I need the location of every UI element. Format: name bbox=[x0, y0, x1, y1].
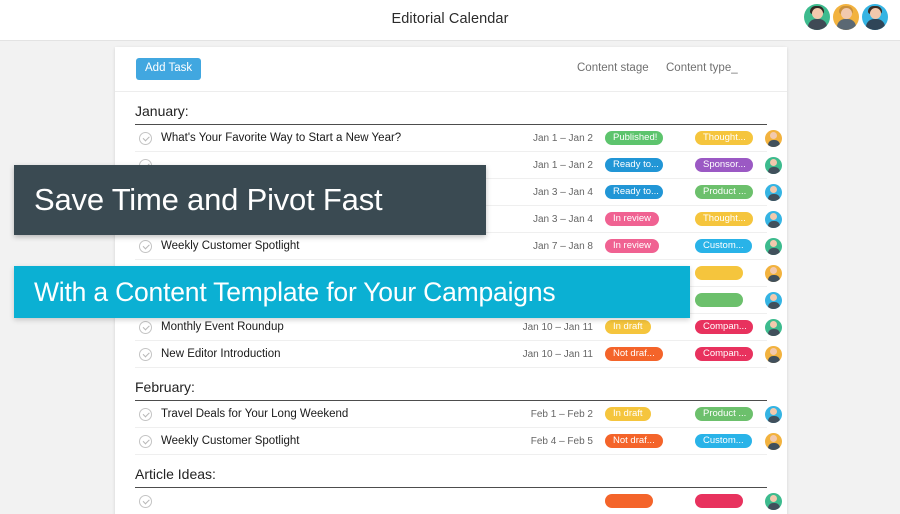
section-title: Article Ideas: bbox=[135, 455, 767, 488]
app-screen: Editorial Calendar Add Task Content stag… bbox=[0, 0, 900, 514]
content-stage-tag[interactable]: Ready to... bbox=[605, 185, 663, 200]
section-title: February: bbox=[135, 368, 767, 401]
content-type-tag[interactable] bbox=[695, 266, 743, 280]
task-assignee-avatar[interactable] bbox=[765, 346, 782, 363]
task-title[interactable]: Travel Deals for Your Long Weekend bbox=[161, 408, 767, 420]
check-circle-icon[interactable] bbox=[139, 321, 152, 334]
task-assignee-avatar[interactable] bbox=[765, 238, 782, 255]
overlay-subheadline: With a Content Template for Your Campaig… bbox=[14, 266, 690, 318]
content-type-tag[interactable]: Custom... bbox=[695, 239, 752, 254]
check-circle-icon[interactable] bbox=[139, 132, 152, 145]
overlay-headline: Save Time and Pivot Fast bbox=[14, 165, 486, 235]
content-stage-tag[interactable]: In draft bbox=[605, 407, 651, 422]
content-type-tag[interactable] bbox=[695, 494, 743, 508]
column-header-content-type[interactable]: Content type_ bbox=[666, 62, 738, 74]
check-circle-icon[interactable] bbox=[139, 435, 152, 448]
check-circle-icon[interactable] bbox=[139, 408, 152, 421]
task-date-range: Jan 10 – Jan 11 bbox=[505, 322, 593, 333]
task-row[interactable]: Weekly Customer SpotlightJan 7 – Jan 8In… bbox=[135, 233, 767, 260]
content-stage-tag[interactable]: In review bbox=[605, 239, 659, 254]
content-type-tag[interactable]: Sponsor... bbox=[695, 158, 753, 173]
task-date-range: Jan 7 – Jan 8 bbox=[505, 241, 593, 252]
add-task-button[interactable]: Add Task bbox=[136, 58, 201, 80]
top-bar: Editorial Calendar bbox=[0, 0, 900, 41]
task-date-range: Jan 3 – Jan 4 bbox=[505, 214, 593, 225]
content-type-tag[interactable]: Compan... bbox=[695, 347, 753, 362]
content-type-tag[interactable]: Thought... bbox=[695, 131, 753, 146]
content-type-tag[interactable] bbox=[695, 293, 743, 307]
check-circle-icon[interactable] bbox=[139, 348, 152, 361]
content-stage-tag[interactable]: In review bbox=[605, 212, 659, 227]
task-assignee-avatar[interactable] bbox=[765, 265, 782, 282]
task-assignee-avatar[interactable] bbox=[765, 211, 782, 228]
task-assignee-avatar[interactable] bbox=[765, 493, 782, 510]
content-type-tag[interactable]: Product ... bbox=[695, 407, 753, 422]
page-title: Editorial Calendar bbox=[0, 11, 900, 27]
task-date-range: Jan 1 – Jan 2 bbox=[505, 160, 593, 171]
task-assignee-avatar[interactable] bbox=[765, 292, 782, 309]
task-assignee-avatar[interactable] bbox=[765, 130, 782, 147]
task-assignee-avatar[interactable] bbox=[765, 157, 782, 174]
content-type-tag[interactable]: Thought... bbox=[695, 212, 753, 227]
column-header-content-stage[interactable]: Content stage bbox=[577, 62, 649, 74]
task-row[interactable]: Travel Deals for Your Long WeekendFeb 1 … bbox=[135, 401, 767, 428]
content-type-tag[interactable]: Product ... bbox=[695, 185, 753, 200]
task-title[interactable]: New Editor Introduction bbox=[161, 348, 767, 360]
task-row[interactable]: What's Your Favorite Way to Start a New … bbox=[135, 125, 767, 152]
avatar-user-2[interactable] bbox=[833, 4, 859, 30]
content-type-tag[interactable]: Custom... bbox=[695, 434, 752, 449]
task-title[interactable]: Weekly Customer Spotlight bbox=[161, 435, 767, 447]
task-date-range: Jan 3 – Jan 4 bbox=[505, 187, 593, 198]
task-date-range: Jan 1 – Jan 2 bbox=[505, 133, 593, 144]
task-date-range: Feb 1 – Feb 2 bbox=[505, 409, 593, 420]
content-stage-tag[interactable]: Published! bbox=[605, 131, 663, 146]
content-stage-tag[interactable]: In draft bbox=[605, 320, 651, 335]
task-assignee-avatar[interactable] bbox=[765, 184, 782, 201]
card-toolbar: Add Task Content stage Content type_ bbox=[115, 47, 787, 92]
task-row[interactable]: Monthly Event RoundupJan 10 – Jan 11In d… bbox=[135, 314, 767, 341]
task-assignee-avatar[interactable] bbox=[765, 319, 782, 336]
avatar-user-1[interactable] bbox=[804, 4, 830, 30]
task-row[interactable]: New Editor IntroductionJan 10 – Jan 11No… bbox=[135, 341, 767, 368]
content-stage-tag[interactable]: Not draf... bbox=[605, 347, 663, 362]
task-row[interactable]: Weekly Customer SpotlightFeb 4 – Feb 5No… bbox=[135, 428, 767, 455]
section-title: January: bbox=[135, 92, 767, 125]
header-avatar-group bbox=[804, 4, 888, 30]
task-date-range: Jan 10 – Jan 11 bbox=[505, 349, 593, 360]
content-type-tag[interactable]: Compan... bbox=[695, 320, 753, 335]
avatar-user-3[interactable] bbox=[862, 4, 888, 30]
check-circle-icon[interactable] bbox=[139, 495, 152, 508]
task-title[interactable]: What's Your Favorite Way to Start a New … bbox=[161, 132, 767, 144]
task-title[interactable]: Monthly Event Roundup bbox=[161, 321, 767, 333]
content-stage-tag[interactable]: Ready to... bbox=[605, 158, 663, 173]
task-row[interactable] bbox=[135, 488, 767, 514]
content-stage-tag[interactable] bbox=[605, 494, 653, 508]
task-assignee-avatar[interactable] bbox=[765, 433, 782, 450]
task-date-range: Feb 4 – Feb 5 bbox=[505, 436, 593, 447]
check-circle-icon[interactable] bbox=[139, 240, 152, 253]
task-title[interactable]: Weekly Customer Spotlight bbox=[161, 240, 767, 252]
content-stage-tag[interactable]: Not draf... bbox=[605, 434, 663, 449]
task-assignee-avatar[interactable] bbox=[765, 406, 782, 423]
